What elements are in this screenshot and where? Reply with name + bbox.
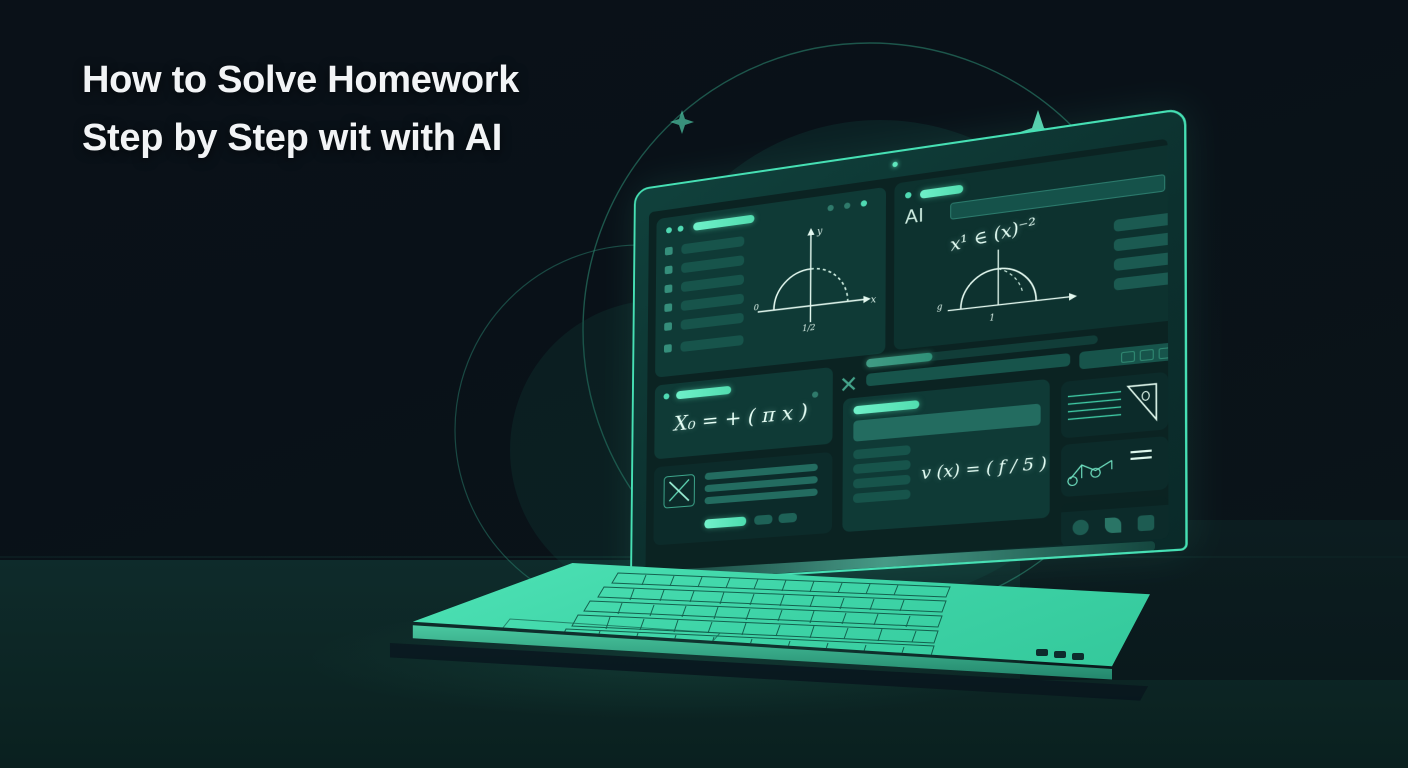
- flame-icon[interactable]: [1140, 349, 1154, 361]
- ai-window-dot: [905, 192, 911, 199]
- window-dot-1: [666, 227, 672, 234]
- laptop-lid: y x 0 1/2 AI x¹ ∈ (x)⁻²: [630, 107, 1188, 585]
- ai-result-row-4[interactable]: [1114, 272, 1169, 291]
- sidebar-item-document[interactable]: [681, 274, 744, 292]
- formula-card[interactable]: X₀ = + ( π x ): [654, 367, 833, 459]
- port-1: [1036, 649, 1048, 656]
- page-title: How to Solve Homework Step by Step wit w…: [82, 52, 702, 168]
- window-dot-2: [678, 225, 684, 232]
- x-glyph-left-icon: ✕: [839, 371, 858, 400]
- solution-row-4[interactable]: [853, 489, 910, 503]
- solution-card[interactable]: v (x) = ( f / 5 ): [842, 379, 1049, 532]
- window-control-3[interactable]: [861, 200, 867, 207]
- solution-row-2[interactable]: [853, 460, 910, 474]
- media-result-card[interactable]: [653, 452, 832, 546]
- sidebar-item-book-icon[interactable]: [665, 265, 673, 274]
- ai-label: AI: [905, 204, 924, 228]
- sidebar-item-book[interactable]: [681, 255, 744, 273]
- solution-equation: v (x) = ( f / 5 ): [921, 453, 1047, 484]
- square-shape[interactable]: [1138, 515, 1155, 532]
- ai-panel-title: [920, 184, 963, 198]
- course-panel[interactable]: y x 0 1/2: [655, 187, 886, 378]
- ai-result-row-1[interactable]: [1114, 212, 1169, 232]
- solution-card-title: [853, 400, 919, 415]
- sidebar-item-list[interactable]: [680, 335, 743, 352]
- sidebar-item-grid[interactable]: [681, 293, 744, 311]
- sidebar-item-list-icon[interactable]: [664, 344, 672, 353]
- course-panel-title: [693, 214, 754, 230]
- formula-card-title: [676, 386, 731, 400]
- laptop: y x 0 1/2 AI x¹ ∈ (x)⁻²: [380, 185, 1180, 705]
- ruler-triangle-icon: [1061, 372, 1168, 439]
- square-icon[interactable]: [1159, 347, 1169, 359]
- headline-line-1: How to Solve Homework: [82, 52, 702, 110]
- poster-canvas: How to Solve Homework Step by Step wit w…: [0, 0, 1408, 768]
- notes-card[interactable]: [1061, 372, 1168, 439]
- ai-result-row-2[interactable]: [1114, 232, 1169, 252]
- media-primary-button[interactable]: [704, 516, 746, 528]
- chart-x-icon: [663, 474, 694, 509]
- sidebar-item-bookmark-icon[interactable]: [664, 322, 672, 331]
- y-axis-label: y: [816, 226, 823, 237]
- sidebar-item-document-icon[interactable]: [665, 284, 673, 293]
- ai-assistant-panel[interactable]: AI x¹ ∈ (x)⁻² g 1: [894, 143, 1169, 350]
- sidebar-item-bookmark[interactable]: [681, 313, 744, 330]
- formula-card-dot: [664, 393, 670, 400]
- circle-shape[interactable]: [1073, 519, 1089, 535]
- keyboard-deck[interactable]: [390, 563, 1150, 683]
- webcam-icon: [892, 161, 897, 167]
- port-2: [1054, 651, 1066, 658]
- solution-row-1[interactable]: [853, 445, 910, 459]
- ai-result-row-3[interactable]: [1114, 252, 1169, 271]
- sidebar-item-home[interactable]: [681, 236, 744, 254]
- x-axis-label: x: [871, 295, 876, 306]
- window-control-2[interactable]: [844, 202, 850, 209]
- ai-search-input[interactable]: [950, 174, 1165, 220]
- formula-card-status: [812, 391, 818, 398]
- sidebar-item-grid-icon[interactable]: [664, 303, 672, 312]
- leaf-shape[interactable]: [1105, 517, 1121, 534]
- window-control-1[interactable]: [828, 205, 834, 212]
- port-3: [1072, 653, 1084, 660]
- ai-graph-bottom-label: 1: [989, 313, 995, 323]
- media-secondary-button[interactable]: [754, 514, 772, 525]
- drop-icon[interactable]: [1121, 351, 1135, 363]
- sidebar-item-home-icon[interactable]: [665, 247, 673, 256]
- media-tertiary-button[interactable]: [778, 513, 796, 524]
- shapes-card-header: [1061, 496, 1168, 513]
- graph-bottom-label: 1/2: [802, 322, 815, 333]
- graph-left-label: 0: [754, 303, 759, 313]
- music-graph-icon: [1061, 436, 1168, 497]
- headline-line-2: Step by Step wit with AI: [82, 110, 702, 168]
- solution-row-3[interactable]: [853, 475, 910, 489]
- shapes-card[interactable]: [1061, 496, 1168, 547]
- formula-card-equation: X₀ = + ( π x ): [674, 398, 808, 435]
- ai-graph-left-label: g: [937, 302, 943, 312]
- course-graph: y x 0 1/2: [751, 210, 881, 357]
- graph-card[interactable]: [1061, 436, 1168, 497]
- screen-content: y x 0 1/2 AI x¹ ∈ (x)⁻²: [645, 139, 1168, 572]
- laptop-display: y x 0 1/2 AI x¹ ∈ (x)⁻²: [645, 139, 1168, 572]
